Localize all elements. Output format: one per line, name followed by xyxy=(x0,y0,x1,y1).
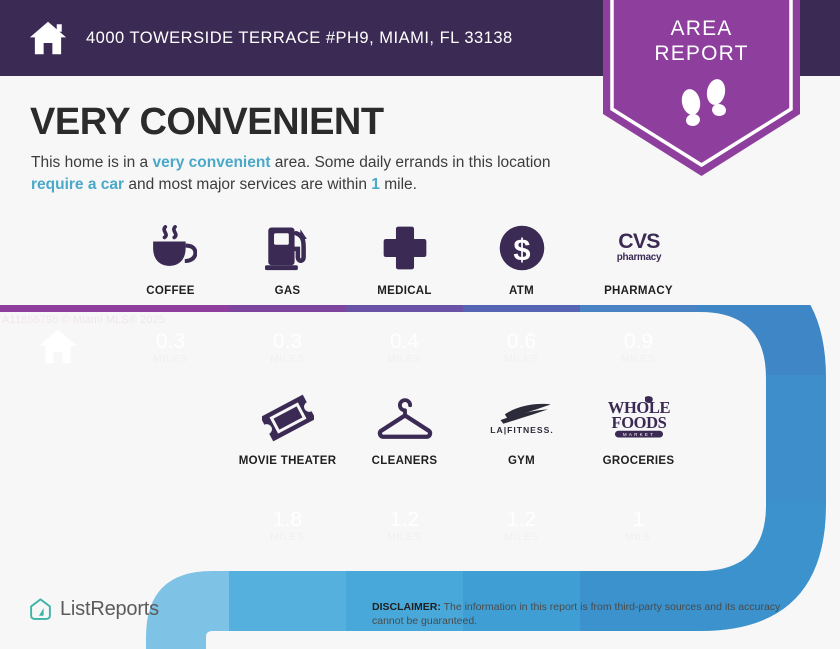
whole-foods-logo: WHOLE FOODS MARKET xyxy=(600,392,678,444)
distance-value: 1.8 xyxy=(273,508,302,531)
disclaimer-label: DISCLAIMER: xyxy=(372,601,441,613)
intro-highlight-2: require a car xyxy=(31,176,124,193)
distance-medical: 0.4 MILES xyxy=(346,320,463,374)
distance-gas: 0.3 MILES xyxy=(229,320,346,374)
category-pharmacy: CVS pharmacy PHARMACY xyxy=(580,222,697,297)
intro-text-3: and most major services are within xyxy=(124,176,371,193)
intro-highlight-3: 1 xyxy=(371,176,380,193)
intro-text-4: mile. xyxy=(380,176,417,193)
category-gym: LA|FITNESS. GYM xyxy=(463,392,580,467)
coffee-cup-icon xyxy=(145,222,197,274)
row2-distances: 1.8 MILES 1.2 MILES 1.2 MILES 1 MILE xyxy=(229,498,697,552)
listreports-wordmark: ListReports xyxy=(60,598,159,621)
category-label: PHARMACY xyxy=(604,285,673,297)
badge-line-2: REPORT xyxy=(603,41,800,66)
home-marker-icon xyxy=(38,328,78,366)
distance-unit: MILES xyxy=(621,354,656,365)
movie-ticket-icon xyxy=(262,392,314,444)
distance-unit: MILE xyxy=(625,532,652,543)
area-report-page: 4000 TOWERSIDE TERRACE #PH9, MIAMI, FL 3… xyxy=(0,0,840,649)
category-groceries: WHOLE FOODS MARKET GROCERIES xyxy=(580,392,697,467)
distance-value: 1.2 xyxy=(390,508,419,531)
distance-groceries: 1 MILE xyxy=(580,498,697,552)
svg-text:FOODS: FOODS xyxy=(611,413,666,432)
category-label: COFFEE xyxy=(146,285,194,297)
page-title: VERY CONVENIENT xyxy=(30,101,384,144)
svg-text:MARKET: MARKET xyxy=(622,432,654,437)
distance-unit: MILES xyxy=(270,354,305,365)
intro-text-2: area. Some daily errands in this locatio… xyxy=(271,154,551,171)
distance-cleaners: 1.2 MILES xyxy=(346,498,463,552)
category-label: GAS xyxy=(275,285,301,297)
gas-pump-icon xyxy=(265,222,311,274)
distance-value: 0.3 xyxy=(273,330,302,353)
distance-unit: MILES xyxy=(387,354,422,365)
distance-unit: MILES xyxy=(504,532,539,543)
category-label: CLEANERS xyxy=(372,455,438,467)
svg-text:LA|FITNESS.: LA|FITNESS. xyxy=(490,425,553,435)
bar-segment-elbow-top xyxy=(697,305,837,385)
distance-value: 0.6 xyxy=(507,330,536,353)
row2-icons: MOVIE THEATER CLEANERS LA|FITNESS. GYM xyxy=(229,392,697,467)
category-cleaners: CLEANERS xyxy=(346,392,463,467)
category-label: ATM xyxy=(509,285,534,297)
category-coffee: COFFEE xyxy=(112,222,229,297)
distance-value: 1 xyxy=(633,508,645,531)
row1-distances: 0.3 MILES 0.3 MILES 0.4 MILES 0.6 MILES … xyxy=(112,320,697,374)
home-icon xyxy=(28,18,68,58)
distance-gym: 1.2 MILES xyxy=(463,498,580,552)
distance-unit: MILES xyxy=(270,532,305,543)
distance-unit: MILES xyxy=(504,354,539,365)
cvs-pharmacy-logo: CVS pharmacy xyxy=(600,222,678,274)
medical-cross-icon xyxy=(382,222,428,274)
bar-segment-end xyxy=(130,501,229,649)
distance-atm: 0.6 MILES xyxy=(463,320,580,374)
category-label: MOVIE THEATER xyxy=(239,455,337,467)
intro-description: This home is in a very convenient area. … xyxy=(31,152,601,196)
category-label: GROCERIES xyxy=(603,455,675,467)
header-content: 4000 TOWERSIDE TERRACE #PH9, MIAMI, FL 3… xyxy=(28,0,513,76)
mls-watermark: A11856795 © Miami MLS® 2025 xyxy=(2,314,165,326)
area-report-badge: AREA REPORT xyxy=(603,0,800,182)
category-label: GYM xyxy=(508,455,535,467)
svg-text:pharmacy: pharmacy xyxy=(616,252,661,263)
distance-pharmacy: 0.9 MILES xyxy=(580,320,697,374)
distance-unit: MILES xyxy=(153,354,188,365)
distance-value: 0.9 xyxy=(624,330,653,353)
category-movie-theater: MOVIE THEATER xyxy=(229,392,346,467)
badge-line-1: AREA xyxy=(603,16,800,41)
intro-text-1: This home is in a xyxy=(31,154,152,171)
category-atm: $ ATM xyxy=(463,222,580,297)
category-gas: GAS xyxy=(229,222,346,297)
distance-value: 0.4 xyxy=(390,330,419,353)
listreports-house-icon xyxy=(28,597,53,622)
dollar-circle-icon: $ xyxy=(498,222,546,274)
listreports-logo: ListReports xyxy=(28,597,159,622)
distance-value: 1.2 xyxy=(507,508,536,531)
distance-value: 0.3 xyxy=(156,330,185,353)
la-fitness-logo: LA|FITNESS. xyxy=(479,392,565,444)
badge-label: AREA REPORT xyxy=(603,16,800,66)
clothes-hanger-icon xyxy=(376,392,434,444)
svg-text:$: $ xyxy=(513,232,530,267)
disclaimer: DISCLAIMER: The information in this repo… xyxy=(372,600,814,628)
svg-text:CVS: CVS xyxy=(618,229,660,253)
distance-coffee: 0.3 MILES xyxy=(112,320,229,374)
property-address: 4000 TOWERSIDE TERRACE #PH9, MIAMI, FL 3… xyxy=(86,29,513,48)
category-medical: MEDICAL xyxy=(346,222,463,297)
distance-movie-theater: 1.8 MILES xyxy=(229,498,346,552)
row1-icons: COFFEE GAS MEDICAL xyxy=(112,222,697,297)
intro-highlight-1: very convenient xyxy=(152,154,270,171)
category-label: MEDICAL xyxy=(377,285,432,297)
bar-connector-right xyxy=(690,375,840,505)
distance-unit: MILES xyxy=(387,532,422,543)
